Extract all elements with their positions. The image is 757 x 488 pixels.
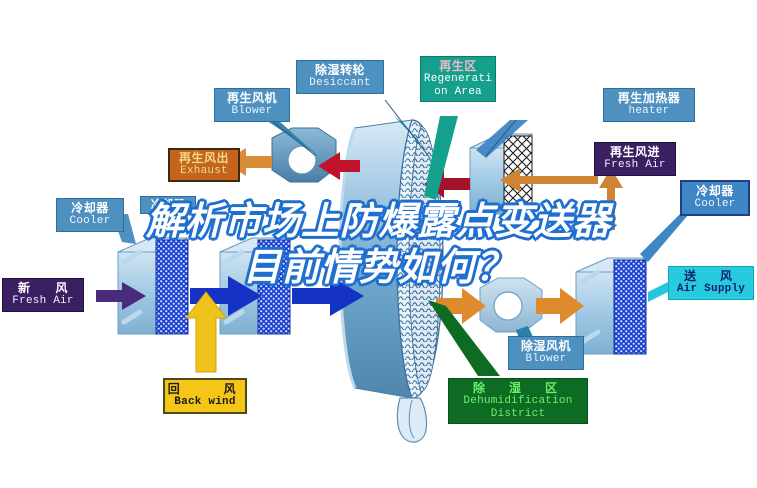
label-regen-area-en: Regenerati on Area (423, 73, 493, 98)
label-cooler-mid-cn: 冷却器 (143, 199, 193, 211)
cooler-unit-right-graphic (576, 258, 646, 354)
label-desiccant-rotor-cn: 除湿转轮 (299, 64, 381, 77)
leader-cooler-right (640, 208, 694, 262)
regen-heater-graphic (470, 134, 532, 214)
schematic-canvas: xt (0, 0, 757, 488)
label-regen-heater-en: heater (606, 105, 692, 117)
label-dehum-district-en2: District (451, 408, 585, 420)
label-regen-area: 再生区 Regenerati on Area (420, 56, 496, 102)
label-back-wind-cn: 回 风 (167, 383, 243, 396)
label-cooler-right-cn: 冷却器 (684, 185, 746, 198)
label-cooler-left-en: Cooler (59, 215, 121, 227)
dehum-blower-graphic (480, 278, 542, 332)
label-regen-fresh-air: 再生风进 Fresh Air (594, 142, 676, 176)
regen-blower-graphic (272, 128, 336, 182)
label-dehum-district-en1: Dehumidification (451, 395, 585, 407)
label-dehum-blower: 除湿风机 Blower (508, 336, 584, 370)
label-regen-blower-cn: 再生风机 (217, 92, 287, 105)
label-regen-exhaust-en: Exhaust (172, 165, 236, 177)
label-back-wind-en: Back wind (167, 396, 243, 408)
label-desiccant-rotor-en: Desiccant (299, 77, 381, 89)
label-regen-blower-en: Blower (217, 105, 287, 117)
label-cooler-right-en: Cooler (684, 198, 746, 210)
label-fresh-air-in-en: Fresh Air (5, 295, 81, 307)
label-regen-heater-cn: 再生加热器 (606, 92, 692, 105)
label-regen-exhaust: 再生风出 Exhaust (168, 148, 240, 182)
label-regen-heater: 再生加热器 heater (603, 88, 695, 122)
label-cooler-left-cn: 冷却器 (59, 202, 121, 215)
label-air-supply: 送 风 Air Supply (668, 266, 754, 300)
label-cooler-mid: 冷却器 (140, 196, 196, 214)
arrow-orange-freshair-horiz (500, 168, 598, 192)
label-desiccant-rotor: 除湿转轮 Desiccant (296, 60, 384, 94)
label-regen-area-cn: 再生区 (423, 60, 493, 73)
label-dehum-district: 除 湿 区 Dehumidification District (448, 378, 588, 424)
label-dehum-blower-en: Blower (511, 353, 581, 365)
label-regen-fresh-air-cn: 再生风进 (597, 146, 673, 159)
label-air-supply-cn: 送 风 (671, 270, 751, 283)
label-dehum-district-cn: 除 湿 区 (451, 382, 585, 395)
label-dehum-blower-cn: 除湿风机 (511, 340, 581, 353)
label-regen-exhaust-cn: 再生风出 (172, 152, 236, 165)
label-regen-fresh-air-en: Fresh Air (597, 159, 673, 171)
svg-text:xt: xt (370, 311, 383, 326)
label-back-wind: 回 风 Back wind (163, 378, 247, 414)
label-air-supply-en: Air Supply (671, 283, 751, 295)
label-fresh-air-in-cn: 新 风 (5, 282, 81, 295)
label-regen-blower: 再生风机 Blower (214, 88, 290, 122)
label-cooler-right: 冷却器 Cooler (680, 180, 750, 216)
arrow-orange-freshair-riser (599, 168, 623, 230)
label-cooler-left: 冷却器 Cooler (56, 198, 124, 232)
label-fresh-air-in: 新 风 Fresh Air (2, 278, 84, 312)
